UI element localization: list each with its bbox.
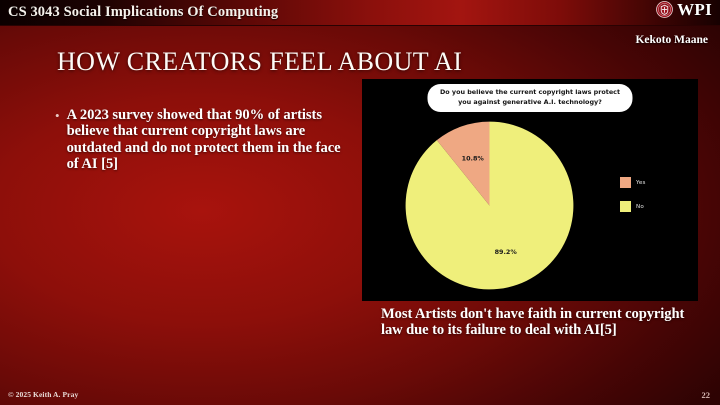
chart-title-bubble: Do you believe the current copyright law…: [428, 84, 633, 112]
presenter-name: Kekoto Maane: [635, 34, 708, 46]
chart-legend: Yes No: [620, 177, 646, 225]
legend-item-yes: Yes: [620, 177, 646, 188]
page-number: 22: [702, 390, 711, 400]
list-item: • A 2023 survey showed that 90% of artis…: [55, 107, 355, 173]
chart-title: Do you believe the current copyright law…: [439, 88, 622, 107]
slide-title: HOW CREATORS FEEL ABOUT AI: [57, 47, 462, 77]
footer-copyright: © 2025 Keith A. Pray: [8, 390, 78, 399]
presentation-slide: CS 3043 Social Implications Of Computing…: [0, 0, 720, 405]
bullet-list: • A 2023 survey showed that 90% of artis…: [55, 107, 355, 173]
pie-label-yes: 10.8%: [462, 155, 485, 163]
bullet-text: A 2023 survey showed that 90% of artists…: [67, 107, 355, 173]
pie-chart-panel: Do you believe the current copyright law…: [362, 79, 698, 301]
wpi-logo: WPI: [656, 1, 712, 18]
legend-swatch-yes: [620, 177, 631, 188]
bullet-marker-icon: •: [55, 107, 60, 124]
course-title: CS 3043 Social Implications Of Computing: [0, 4, 278, 21]
pie-label-no: 89.2%: [495, 248, 518, 256]
pie-svg: 10.8% 89.2%: [403, 119, 576, 292]
wpi-wordmark: WPI: [677, 1, 712, 18]
slide-banner: CS 3043 Social Implications Of Computing…: [0, 0, 720, 26]
legend-swatch-no: [620, 201, 631, 212]
legend-item-no: No: [620, 201, 646, 212]
chart-caption: Most Artists don't have faith in current…: [381, 306, 701, 338]
legend-label-yes: Yes: [636, 180, 646, 186]
wpi-seal-icon: [656, 1, 673, 18]
legend-label-no: No: [636, 204, 644, 210]
pie-chart-graphic: 10.8% 89.2%: [403, 119, 576, 292]
